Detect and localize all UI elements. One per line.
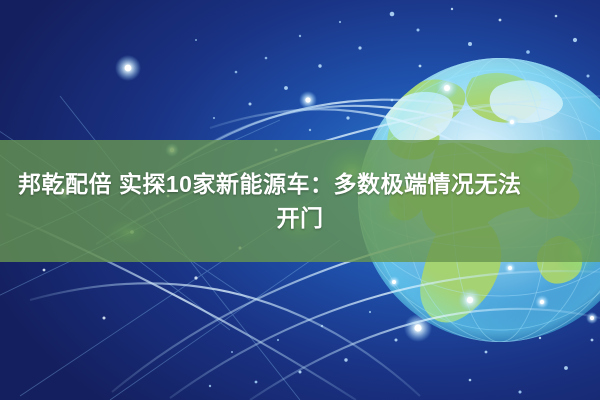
title-overlay-band: 邦乾配倍 实探10家新能源车：多数极端情况无法 开门 <box>0 140 600 262</box>
page-title: 邦乾配倍 实探10家新能源车：多数极端情况无法 开门 <box>10 167 590 235</box>
cover-image-canvas: 邦乾配倍 实探10家新能源车：多数极端情况无法 开门 <box>0 0 600 400</box>
title-line-2: 开门 <box>10 201 590 235</box>
title-line-1: 邦乾配倍 实探10家新能源车：多数极端情况无法 <box>10 167 590 201</box>
